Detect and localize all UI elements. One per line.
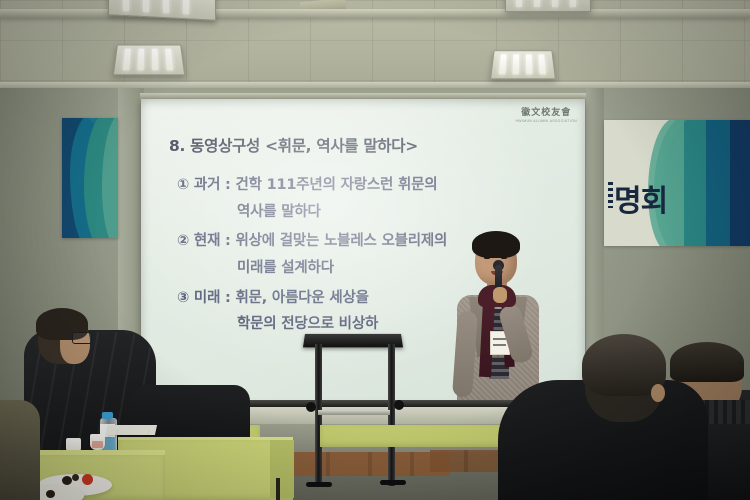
table-leg — [276, 478, 280, 500]
banner-right: 명회 — [604, 120, 750, 246]
music-stand-pole — [315, 344, 322, 486]
music-stand-foot — [380, 480, 406, 485]
slide-logo: 徽文校友會 HWIMUN ALUMNI ASSOCIATION — [515, 109, 577, 123]
slide-title: 8. 동영상구성 <휘문, 역사를 말하다> — [169, 134, 418, 156]
food-item-tomato — [82, 474, 93, 485]
music-stand-foot — [306, 482, 332, 487]
speaker-hair — [472, 231, 520, 258]
ceiling-light-fixture — [505, 0, 591, 12]
slide-logo-hanja: 徽文校友會 — [515, 109, 577, 118]
audience-ear — [651, 384, 665, 402]
music-stand-knob — [306, 402, 316, 412]
music-stand-pole — [388, 344, 395, 486]
banner-text: 명회 — [614, 176, 667, 220]
eyeglasses — [72, 332, 92, 344]
cup-print — [92, 441, 103, 448]
slide-bullet: ① 과거 : 건학 111주년의 자랑스런 휘문의 역사를 말하다 — [177, 177, 577, 220]
speaker-eye — [484, 256, 490, 259]
ceiling-light-fixture — [113, 45, 186, 76]
ceiling — [0, 0, 750, 90]
food-item-berry — [46, 490, 55, 498]
music-stand-knob — [394, 400, 404, 410]
food-item-berry — [62, 476, 72, 485]
lecture-hall-photo: 명회 徽文校友會 HWIMUN ALUMNI ASSOCIATION 8. 동영… — [0, 0, 750, 500]
slide-logo-roman: HWIMUN ALUMNI ASSOCIATION — [515, 120, 577, 123]
bullet-line-1: ① 과거 : 건학 111주년의 자랑스런 휘문의 — [177, 177, 577, 194]
ceiling-light-fixture — [490, 50, 556, 79]
banner-text-truncation-bar — [608, 182, 613, 208]
paper-document — [117, 428, 148, 435]
music-stand-crossbar — [318, 410, 390, 415]
banner-left — [62, 118, 118, 238]
bottle-cap — [102, 412, 113, 419]
speaker-eye — [501, 256, 507, 259]
food-item-berry — [72, 474, 79, 481]
speaker-hand — [493, 287, 507, 303]
audience-hair — [670, 342, 744, 382]
audience-shoulder-foreground — [0, 400, 40, 500]
table-mid-drape — [270, 440, 294, 498]
bullet-line-2: 역사를 말하다 — [177, 204, 577, 221]
